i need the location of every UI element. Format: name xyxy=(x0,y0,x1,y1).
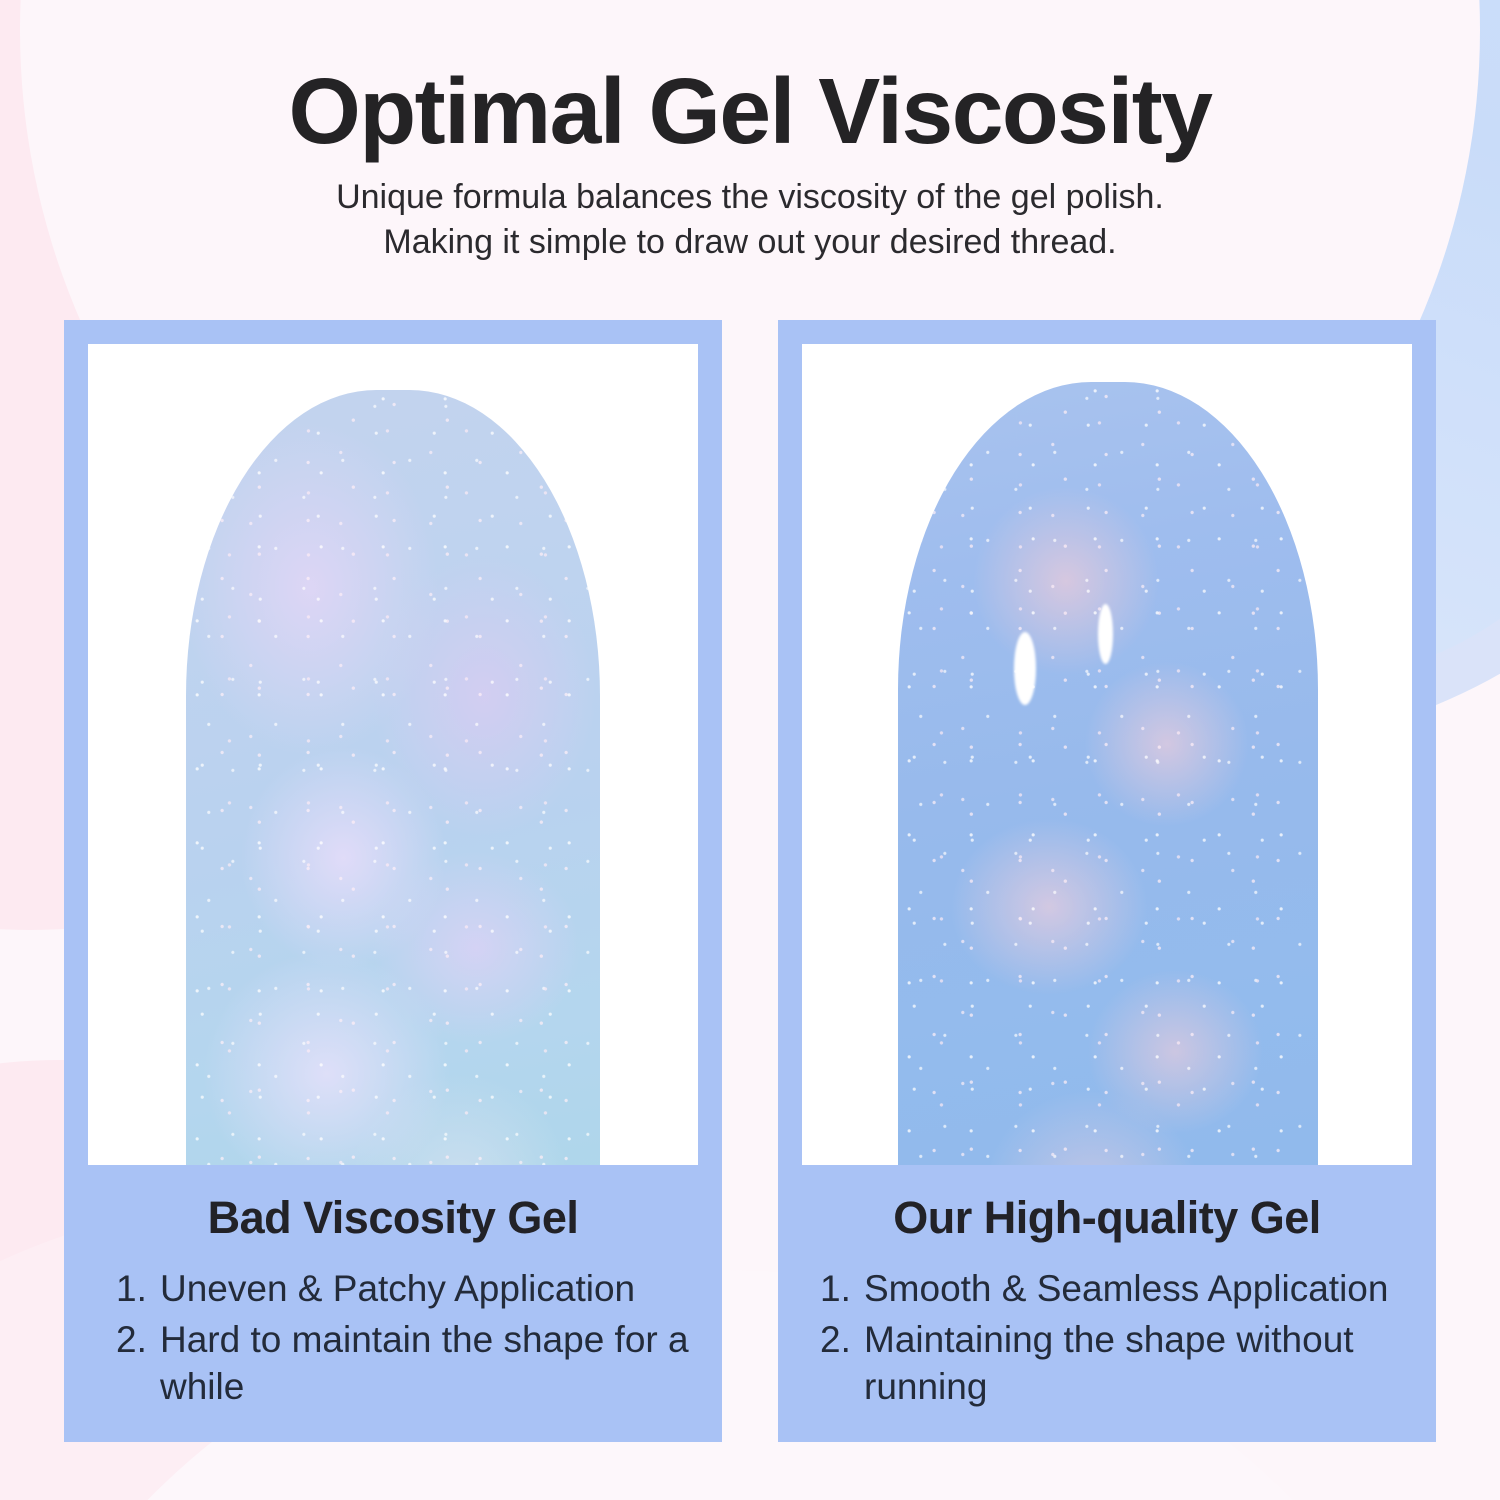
feature-list-good: 1. Smooth & Seamless Application 2. Main… xyxy=(778,1265,1436,1411)
photo-bad-viscosity xyxy=(88,344,698,1165)
list-item: 1. Smooth & Seamless Application xyxy=(820,1265,1436,1312)
list-item-number: 1. xyxy=(116,1265,160,1312)
list-item: 1. Uneven & Patchy Application xyxy=(116,1265,722,1312)
list-item-label: Uneven & Patchy Application xyxy=(160,1265,722,1312)
promo-graphic: Optimal Gel Viscosity Unique formula bal… xyxy=(0,0,1500,1500)
subtitle-line-1: Unique formula balances the viscosity of… xyxy=(0,175,1500,220)
header: Optimal Gel Viscosity Unique formula bal… xyxy=(0,0,1500,265)
list-item-number: 2. xyxy=(820,1316,864,1363)
specular-highlight-small xyxy=(1098,604,1113,664)
comparison-cards: Bad Viscosity Gel 1. Uneven & Patchy App… xyxy=(64,320,1436,1442)
card-bad-viscosity: Bad Viscosity Gel 1. Uneven & Patchy App… xyxy=(64,320,722,1442)
list-item-number: 2. xyxy=(116,1316,160,1363)
card-high-quality: Our High-quality Gel 1. Smooth & Seamles… xyxy=(778,320,1436,1442)
list-item: 2. Hard to maintain the shape for a whil… xyxy=(116,1316,722,1411)
card-heading-good: Our High-quality Gel xyxy=(778,1193,1436,1243)
list-item-number: 1. xyxy=(820,1265,864,1312)
feature-list-bad: 1. Uneven & Patchy Application 2. Hard t… xyxy=(64,1265,722,1411)
nail-swatch-good-icon xyxy=(898,382,1318,1165)
page-subtitle: Unique formula balances the viscosity of… xyxy=(0,175,1500,265)
subtitle-line-2: Making it simple to draw out your desire… xyxy=(0,220,1500,265)
specular-highlight-large xyxy=(1014,632,1036,705)
photo-high-quality xyxy=(802,344,1412,1165)
label-bad-viscosity: Bad Viscosity Gel 1. Uneven & Patchy App… xyxy=(64,1165,722,1442)
page-title: Optimal Gel Viscosity xyxy=(0,0,1500,161)
nail-swatch-bad-icon xyxy=(186,390,600,1165)
list-item: 2. Maintaining the shape without running xyxy=(820,1316,1436,1411)
glitter-texture xyxy=(186,390,600,1165)
list-item-label: Smooth & Seamless Application xyxy=(864,1265,1436,1312)
glitter-texture xyxy=(898,382,1318,1165)
card-heading-bad: Bad Viscosity Gel xyxy=(64,1193,722,1243)
label-high-quality: Our High-quality Gel 1. Smooth & Seamles… xyxy=(778,1165,1436,1442)
list-item-label: Maintaining the shape without running xyxy=(864,1316,1436,1411)
list-item-label: Hard to maintain the shape for a while xyxy=(160,1316,722,1411)
